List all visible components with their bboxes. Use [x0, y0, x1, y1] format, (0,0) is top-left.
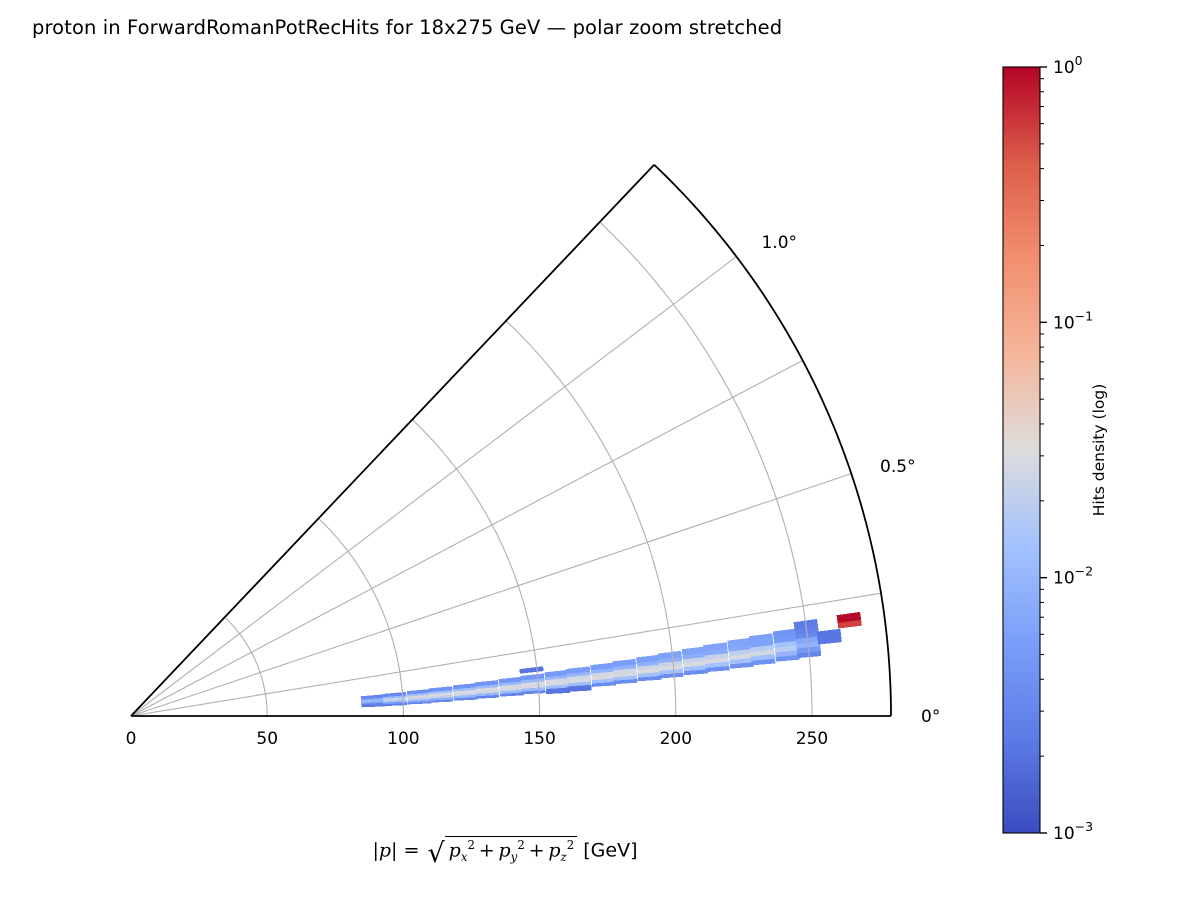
sqrt-expression: √px2 + py2 + pz2 [425, 836, 577, 865]
radial-tick-label: 200 [660, 729, 692, 749]
heatmap-cell [520, 667, 543, 674]
x-axis-label: |p| = √px2 + py2 + pz2 [GeV] [0, 836, 1010, 865]
plus-1: + [479, 839, 495, 861]
colorbar-tick-label: 10−1 [1053, 308, 1093, 333]
term-pz-sub: z [561, 850, 567, 864]
radial-gridline [319, 518, 404, 716]
colorbar-axis-label: Hits density (log) [1090, 384, 1108, 517]
radial-gridline [225, 617, 267, 716]
radical-sign: √ [427, 843, 444, 865]
term-px-sub: x [461, 850, 468, 864]
heatmap-cells [130, 612, 861, 716]
term-pz-base: p [548, 839, 560, 861]
plus-2: + [529, 839, 545, 861]
radial-tick-label: 100 [387, 729, 419, 749]
angular-gridline [131, 257, 736, 716]
colorbar-ticks: 10010−110−210−3 [1040, 53, 1093, 844]
radial-tick-labels: 050100150200250 [126, 729, 829, 749]
spine-theta-max [131, 165, 654, 716]
term-px-sup: 2 [467, 838, 475, 852]
colorbar-tick-label: 100 [1053, 53, 1083, 78]
angular-gridline [131, 474, 851, 716]
colorbar[interactable]: 10010−110−210−3 [1003, 53, 1093, 844]
colorbar-gradient[interactable] [1003, 67, 1040, 833]
radial-tick-label: 250 [796, 729, 828, 749]
radial-tick-label: 0 [126, 729, 137, 749]
term-pz-sup: 2 [567, 838, 575, 852]
colorbar-tick-label: 10−3 [1053, 819, 1093, 844]
angular-tick-label: 0° [921, 707, 940, 727]
term-py-sup: 2 [517, 838, 525, 852]
figure-root: proton in ForwardRomanPotRecHits for 18x… [0, 0, 1200, 900]
angular-tick-label: 1.0° [761, 233, 797, 253]
angular-tick-label: 0.5° [880, 457, 916, 477]
polar-heatmap-plot: 050100150200250 0°0.5°1.0° 10010−110−210… [0, 0, 1200, 900]
radicand: px2 + py2 + pz2 [445, 836, 578, 864]
colorbar-tick-label: 10−2 [1053, 564, 1093, 589]
term-py-sub: y [511, 850, 518, 864]
term-px-base: p [449, 839, 461, 861]
radial-tick-label: 50 [256, 729, 278, 749]
x-label-unit: [GeV] [583, 839, 637, 861]
term-py-base: p [499, 839, 511, 861]
radial-tick-label: 150 [523, 729, 555, 749]
x-label-lhs: |p| = [372, 839, 419, 861]
